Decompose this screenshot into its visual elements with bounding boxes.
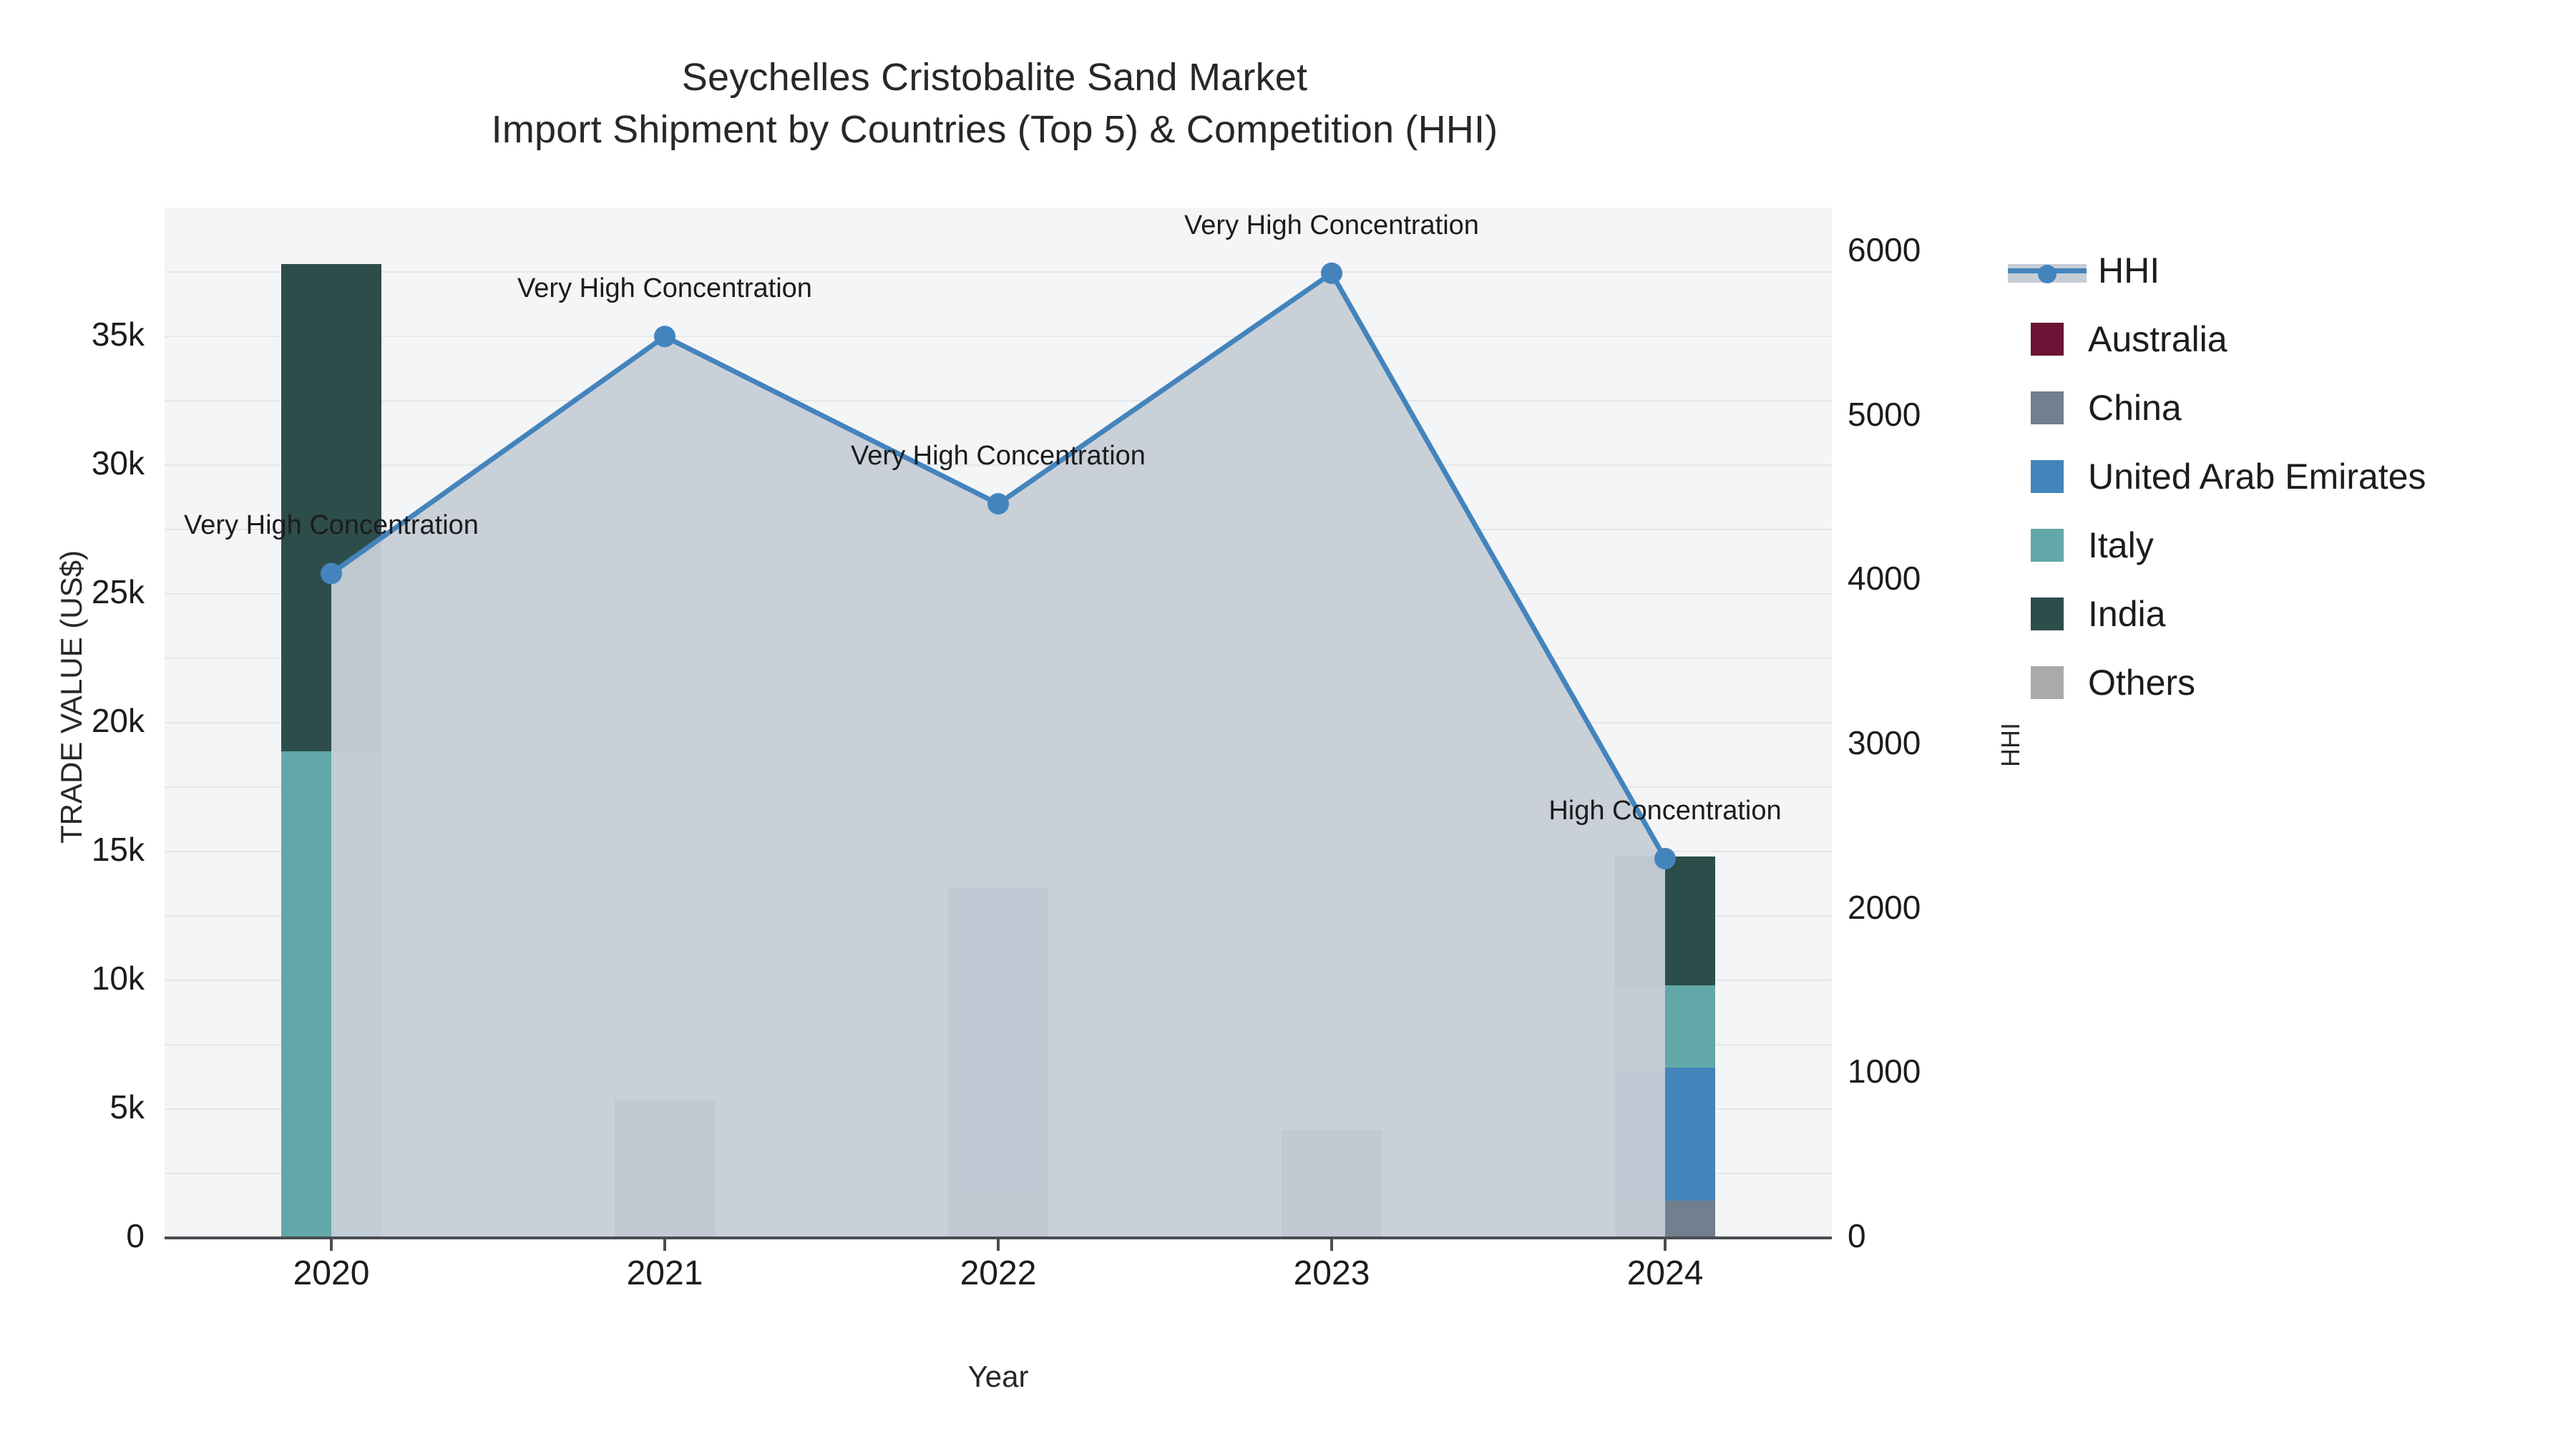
legend-line-dot-icon: [2038, 265, 2057, 283]
legend-label: Others: [2088, 662, 2195, 703]
y-axis-right-tick-1000: 1000: [1848, 1052, 2019, 1091]
legend-color-swatch-others: [2031, 666, 2064, 699]
concentration-label-2022: Very High Concentration: [851, 441, 1146, 472]
hhi-marker-2021[interactable]: [654, 326, 675, 347]
y-axis-left-tick-5k: 5k: [0, 1088, 145, 1126]
legend-label: India: [2088, 593, 2165, 635]
legend-line-marker-icon: [2008, 254, 2087, 287]
x-axis-tick-mark-2020: [330, 1239, 333, 1251]
legend-label: Australia: [2088, 318, 2228, 360]
concentration-label-2024: High Concentration: [1548, 796, 1781, 826]
legend-item-australia[interactable]: Australia: [2031, 305, 2560, 374]
y-axis-left-tick-35k: 35k: [0, 315, 145, 353]
hhi-line-chart: [165, 208, 1832, 1238]
y-axis-left-tick-0: 0: [0, 1216, 145, 1255]
legend-label: Italy: [2088, 525, 2154, 566]
legend-item-united-arab-emirates[interactable]: United Arab Emirates: [2031, 442, 2560, 511]
x-axis-tick-mark-2024: [1664, 1239, 1667, 1251]
hhi-marker-2023[interactable]: [1321, 263, 1342, 284]
concentration-label-2023: Very High Concentration: [1184, 210, 1479, 241]
legend-color-swatch-united-arab-emirates: [2031, 460, 2064, 493]
legend-color-swatch-australia: [2031, 323, 2064, 356]
legend-item-hhi[interactable]: HHI: [2031, 236, 2560, 305]
x-axis-tick-mark-2022: [997, 1239, 1000, 1251]
hhi-marker-2024[interactable]: [1654, 848, 1676, 869]
y-axis-right-tick-5000: 5000: [1848, 395, 2019, 434]
hhi-marker-2020[interactable]: [321, 562, 342, 584]
legend-label: United Arab Emirates: [2088, 456, 2426, 497]
legend-color-swatch-india: [2031, 597, 2064, 630]
y-axis-right-tick-0: 0: [1848, 1216, 2019, 1255]
legend-color-swatch-italy: [2031, 529, 2064, 562]
x-axis-tick-label-2021: 2021: [557, 1254, 772, 1293]
chart-title: Seychelles Cristobalite Sand Market Impo…: [0, 52, 1989, 156]
plot-area: Very High ConcentrationVery High Concent…: [165, 208, 1832, 1238]
y-axis-right-tick-2000: 2000: [1848, 888, 2019, 927]
x-axis-tick-label-2024: 2024: [1558, 1254, 1772, 1293]
y-axis-right-tick-4000: 4000: [1848, 559, 2019, 597]
x-axis-tick-label-2023: 2023: [1224, 1254, 1439, 1293]
y-axis-right-tick-6000: 6000: [1848, 230, 2019, 269]
x-axis-title: Year: [165, 1360, 1832, 1394]
concentration-label-2021: Very High Concentration: [517, 273, 812, 304]
x-axis-tick-mark-2023: [1330, 1239, 1333, 1251]
y-axis-left-title: TRADE VALUE (US$): [54, 411, 89, 983]
plot-clip: [165, 208, 1832, 1238]
concentration-label-2020: Very High Concentration: [184, 510, 479, 541]
chart-title-line-1: Seychelles Cristobalite Sand Market: [0, 52, 1989, 104]
legend-item-china[interactable]: China: [2031, 374, 2560, 442]
hhi-area-fill: [331, 273, 1665, 1238]
x-axis-tick-mark-2021: [663, 1239, 666, 1251]
y-axis-right-title: HHI: [1996, 530, 2026, 960]
legend-color-swatch-china: [2031, 391, 2064, 424]
hhi-marker-2022[interactable]: [987, 493, 1009, 514]
legend-item-italy[interactable]: Italy: [2031, 511, 2560, 580]
legend-label: HHI: [2098, 250, 2160, 291]
x-axis-tick-label-2022: 2022: [891, 1254, 1106, 1293]
y-axis-right-tick-3000: 3000: [1848, 723, 2019, 762]
legend-item-others[interactable]: Others: [2031, 648, 2560, 717]
legend-item-india[interactable]: India: [2031, 580, 2560, 648]
x-axis-tick-label-2020: 2020: [224, 1254, 439, 1293]
chart-title-line-2: Import Shipment by Countries (Top 5) & C…: [0, 104, 1989, 156]
legend-label: China: [2088, 387, 2182, 429]
legend: HHIAustraliaChinaUnited Arab EmiratesIta…: [2031, 236, 2560, 717]
